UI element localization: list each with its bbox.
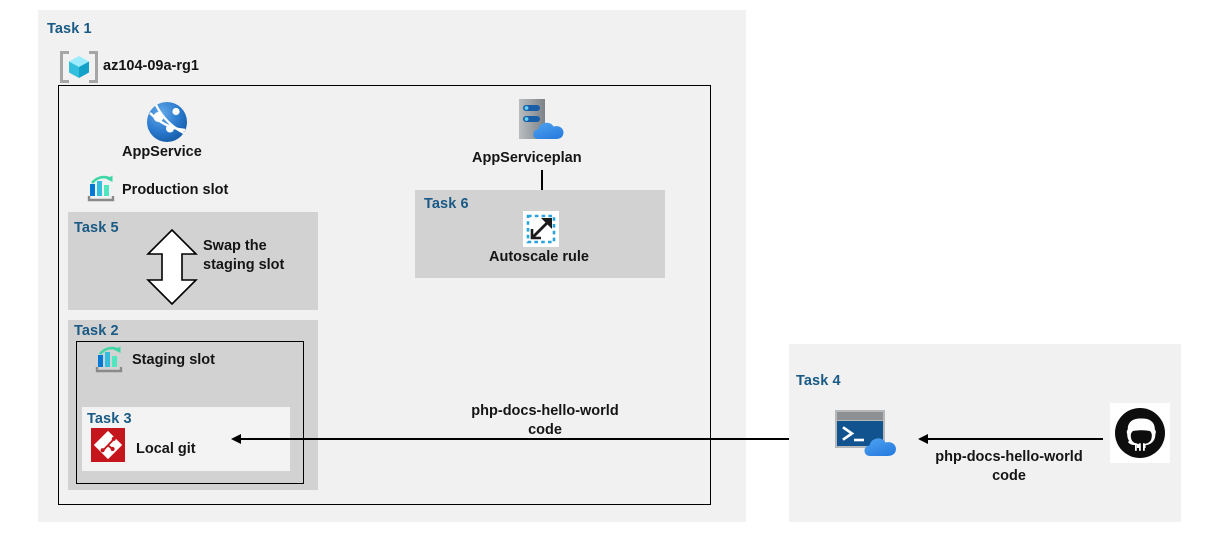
- deployment-slot-icon-production: [86, 175, 116, 203]
- code-push-arrow-line: [240, 438, 834, 440]
- resource-group-name: az104-09a-rg1: [103, 57, 199, 76]
- local-git-label: Local git: [136, 440, 196, 459]
- github-to-shell-arrow-line: [927, 438, 1103, 440]
- task5-swap-text-line1: Swap the: [203, 238, 267, 254]
- center-arrow-label-line1: php-docs-hello-world: [471, 403, 618, 419]
- cloud-shell-icon: [833, 408, 901, 460]
- task5-swap-text: Swap the staging slot: [203, 237, 284, 274]
- task4-label: Task 4: [796, 373, 841, 389]
- task2-label: Task 2: [74, 323, 119, 339]
- autoscale-rule-label: Autoscale rule: [489, 248, 589, 267]
- task4-arrow-label: php-docs-hello-world code: [926, 448, 1092, 485]
- app-service-plan-label: AppServiceplan: [472, 149, 582, 168]
- production-slot-label: Production slot: [122, 181, 228, 200]
- app-service-globe-icon: [146, 101, 188, 143]
- task3-label: Task 3: [87, 411, 132, 427]
- swap-up-down-arrow-icon: [144, 228, 200, 306]
- center-arrow-label-line2: code: [528, 422, 562, 438]
- task4-arrow-label-line2: code: [992, 468, 1026, 484]
- task5-swap-text-line2: staging slot: [203, 257, 284, 273]
- github-octocat-icon: [1110, 403, 1170, 463]
- task1-label: Task 1: [47, 21, 92, 37]
- autoscale-rule-icon: [523, 211, 559, 247]
- github-to-shell-arrow-head: [918, 434, 928, 444]
- task5-label: Task 5: [74, 220, 119, 236]
- diagram-canvas: Task 1 az104-09a-rg1 AppService: [0, 0, 1218, 545]
- code-push-arrow-head: [231, 434, 241, 444]
- app-service-label: AppService: [122, 143, 202, 162]
- resource-group-cube-icon: [60, 51, 98, 83]
- deployment-slot-icon-staging: [94, 346, 124, 374]
- staging-slot-label: Staging slot: [132, 351, 215, 370]
- git-icon: [91, 428, 125, 462]
- task6-label: Task 6: [424, 196, 469, 212]
- center-arrow-label: php-docs-hello-world code: [462, 402, 628, 439]
- app-service-plan-icon: [512, 97, 572, 149]
- task4-arrow-label-line1: php-docs-hello-world: [935, 449, 1082, 465]
